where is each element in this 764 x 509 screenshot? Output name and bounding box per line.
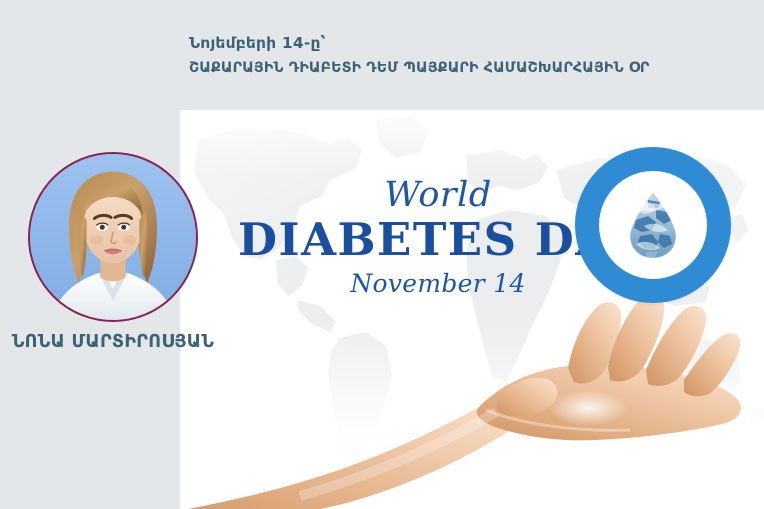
portrait-photo — [30, 154, 196, 320]
speaker-portrait — [28, 152, 198, 322]
earth-droplet-icon — [626, 190, 680, 260]
speaker-name: ՆՈՆԱ ՄԱՐՏԻՐՈՍՅԱՆ — [0, 332, 226, 352]
banner-panel: World DIABETES DAY November 14 — [180, 110, 764, 509]
wordmark-date: November 14 — [238, 271, 638, 296]
blue-circle-inner — [599, 171, 707, 279]
blue-circle-logo — [575, 147, 731, 303]
headline-block: Նոյեմբերի 14-ը՝ ՇԱՔԱՐԱՅԻՆ ԴԻԱԲԵՏԻ ԴԵՄ ՊԱ… — [189, 34, 749, 78]
poster-canvas: Նոյեմբերի 14-ը՝ ՇԱՔԱՐԱՅԻՆ ԴԻԱԲԵՏԻ ԴԵՄ ՊԱ… — [0, 0, 764, 509]
headline-line-2: ՇԱՔԱՐԱՅԻՆ ԴԻԱԲԵՏԻ ԴԵՄ ՊԱՅՔԱՐԻ ՀԱՄԱՇԽԱՐՀԱ… — [189, 59, 749, 77]
headline-line-1: Նոյեմբերի 14-ը՝ — [189, 34, 749, 53]
portrait-ring — [28, 152, 198, 322]
